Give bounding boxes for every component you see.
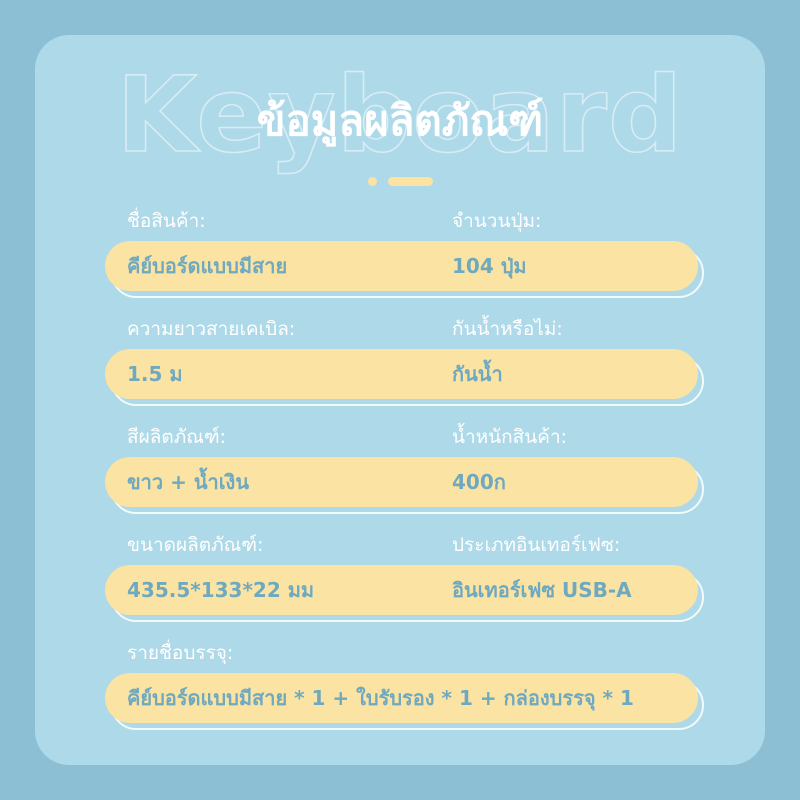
spec-value-pill: คีย์บอร์ดแบบมีสาย 104 ปุ่ม (105, 241, 698, 291)
spec-value-right: 104 ปุ่ม (452, 241, 527, 291)
spec-row-labels: สีผลิตภัณฑ์: น้ำหนักสินค้า: (35, 423, 765, 457)
spec-label-left: ชื่อสินค้า: (127, 207, 206, 236)
spec-value-left: 435.5*133*22 มม (127, 565, 314, 615)
spec-row-labels: ขนาดผลิตภัณฑ์: ประเภทอินเทอร์เฟซ: (35, 531, 765, 565)
product-spec-page: Keyboard ข้อมูลผลิตภัณฑ์ ชื่อสินค้า: จำน… (0, 0, 800, 800)
spec-value-left: คีย์บอร์ดแบบมีสาย (127, 241, 287, 291)
spec-label-right: ประเภทอินเทอร์เฟซ: (452, 531, 620, 560)
spec-value-left: ขาว + น้ำเงิน (127, 457, 249, 507)
spec-row-labels: ความยาวสายเคเบิล: กันน้ำหรือไม่: (35, 315, 765, 349)
spec-value-pill: ขาว + น้ำเงิน 400ก (105, 457, 698, 507)
spec-row: ชื่อสินค้า: จำนวนปุ่ม: คีย์บอร์ดแบบมีสาย… (35, 207, 765, 315)
spec-value-left: คีย์บอร์ดแบบมีสาย * 1 + ใบรับรอง * 1 + ก… (127, 673, 634, 723)
spec-label-right: จำนวนปุ่ม: (452, 207, 541, 236)
spec-value-right: 400ก (452, 457, 506, 507)
spec-value-left: 1.5 ม (127, 349, 183, 399)
spec-row: ความยาวสายเคเบิล: กันน้ำหรือไม่: 1.5 ม ก… (35, 315, 765, 423)
decoration-dash-icon (388, 177, 433, 186)
spec-row: สีผลิตภัณฑ์: น้ำหนักสินค้า: ขาว + น้ำเงิ… (35, 423, 765, 531)
decoration-dot-icon (368, 177, 377, 186)
title-divider-decoration (35, 177, 765, 186)
spec-row-labels: ชื่อสินค้า: จำนวนปุ่ม: (35, 207, 765, 241)
product-info-card: Keyboard ข้อมูลผลิตภัณฑ์ ชื่อสินค้า: จำน… (35, 35, 765, 765)
spec-row-labels: รายชื่อบรรจุ: (35, 639, 765, 673)
spec-label-left: ความยาวสายเคเบิล: (127, 315, 295, 344)
spec-label-left: สีผลิตภัณฑ์: (127, 423, 226, 452)
spec-value-pill: 435.5*133*22 มม อินเทอร์เฟซ USB-A (105, 565, 698, 615)
spec-value-pill: 1.5 ม กันน้ำ (105, 349, 698, 399)
spec-label-left: ขนาดผลิตภัณฑ์: (127, 531, 263, 560)
spec-row: รายชื่อบรรจุ: คีย์บอร์ดแบบมีสาย * 1 + ใบ… (35, 639, 765, 747)
spec-rows: ชื่อสินค้า: จำนวนปุ่ม: คีย์บอร์ดแบบมีสาย… (35, 207, 765, 747)
spec-label-right: กันน้ำหรือไม่: (452, 315, 563, 344)
spec-label-right: น้ำหนักสินค้า: (452, 423, 567, 452)
spec-label-left: รายชื่อบรรจุ: (127, 639, 233, 668)
spec-value-pill: คีย์บอร์ดแบบมีสาย * 1 + ใบรับรอง * 1 + ก… (105, 673, 698, 723)
page-title: ข้อมูลผลิตภัณฑ์ (35, 93, 765, 150)
spec-value-right: กันน้ำ (452, 349, 503, 399)
pill-fill (105, 349, 698, 399)
spec-value-right: อินเทอร์เฟซ USB-A (452, 565, 632, 615)
spec-row: ขนาดผลิตภัณฑ์: ประเภทอินเทอร์เฟซ: 435.5*… (35, 531, 765, 639)
